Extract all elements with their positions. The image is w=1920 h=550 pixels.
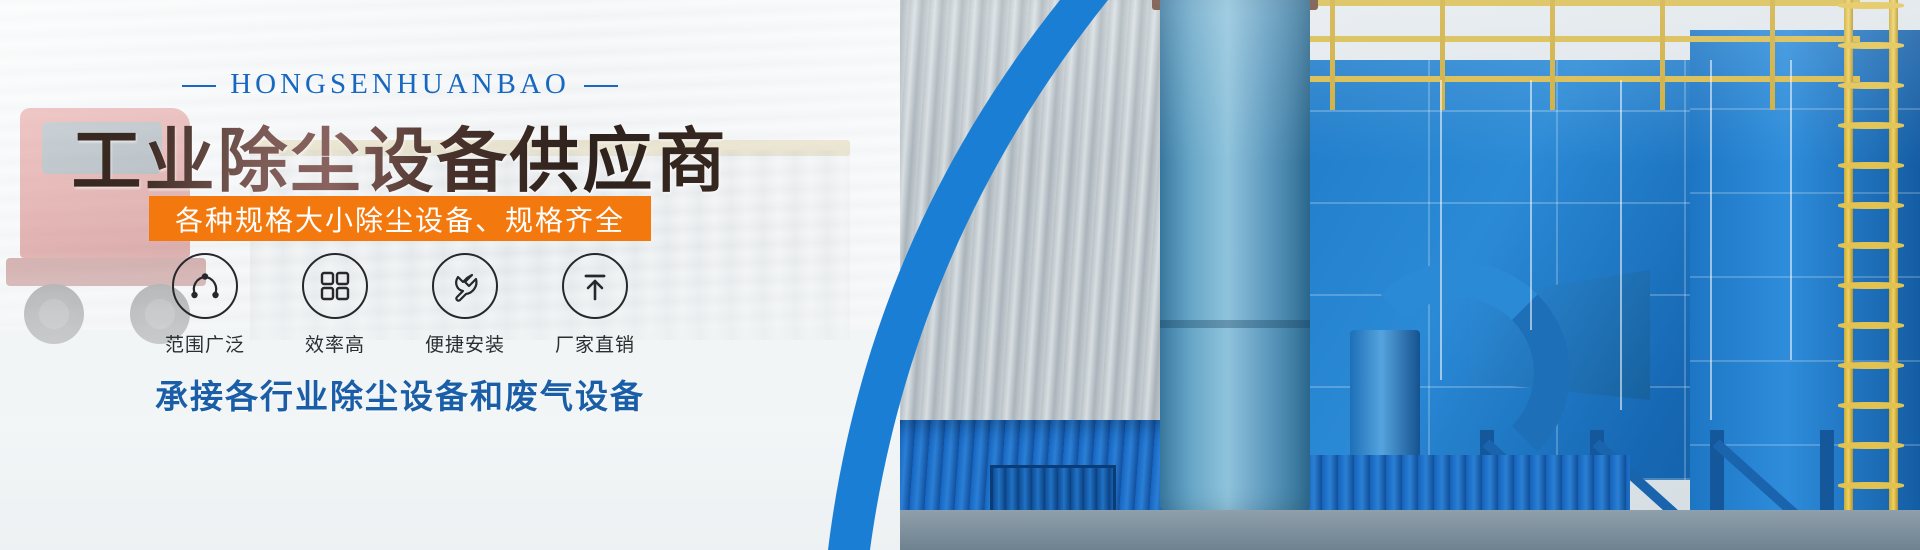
feature-label: 效率高 <box>280 330 390 357</box>
feature-label: 便捷安装 <box>410 330 520 357</box>
ribbon-text: 各种规格大小除尘设备、规格齐全 <box>175 199 625 239</box>
eyebrow-dash-left <box>182 85 216 87</box>
up-arrow-bar-icon <box>562 253 628 319</box>
wrench-tool-icon <box>432 253 498 319</box>
feature-item-easy-install[interactable]: 便捷安装 <box>410 253 520 357</box>
brand-eyebrow: HONGSENHUANBAO <box>0 68 800 101</box>
eyebrow-dash-right <box>584 85 618 87</box>
banner-tagline: 承接各行业除尘设备和废气设备 <box>0 370 800 418</box>
hero-banner: HONGSENHUANBAO 工业除尘设备供应商 各种规格大小除尘设备、规格齐全… <box>0 0 1920 550</box>
photo-haze <box>830 0 1920 550</box>
feature-label: 范围广泛 <box>150 330 260 357</box>
feature-item-factory-direct[interactable]: 厂家直销 <box>540 253 650 357</box>
eyebrow-text: HONGSENHUANBAO <box>230 68 570 100</box>
feature-item-high-efficiency[interactable]: 效率高 <box>280 253 390 357</box>
network-nodes-icon <box>172 253 238 319</box>
feature-label: 厂家直销 <box>540 330 650 357</box>
equipment-photo <box>830 0 1920 550</box>
orange-ribbon: 各种规格大小除尘设备、规格齐全 <box>149 196 651 241</box>
feature-item-wide-range[interactable]: 范围广泛 <box>150 253 260 357</box>
banner-title: 工业除尘设备供应商 <box>0 105 800 206</box>
feature-list: 范围广泛 效率高 <box>150 253 650 357</box>
four-squares-grid-icon <box>302 253 368 319</box>
banner-content: HONGSENHUANBAO 工业除尘设备供应商 各种规格大小除尘设备、规格齐全… <box>0 0 900 550</box>
